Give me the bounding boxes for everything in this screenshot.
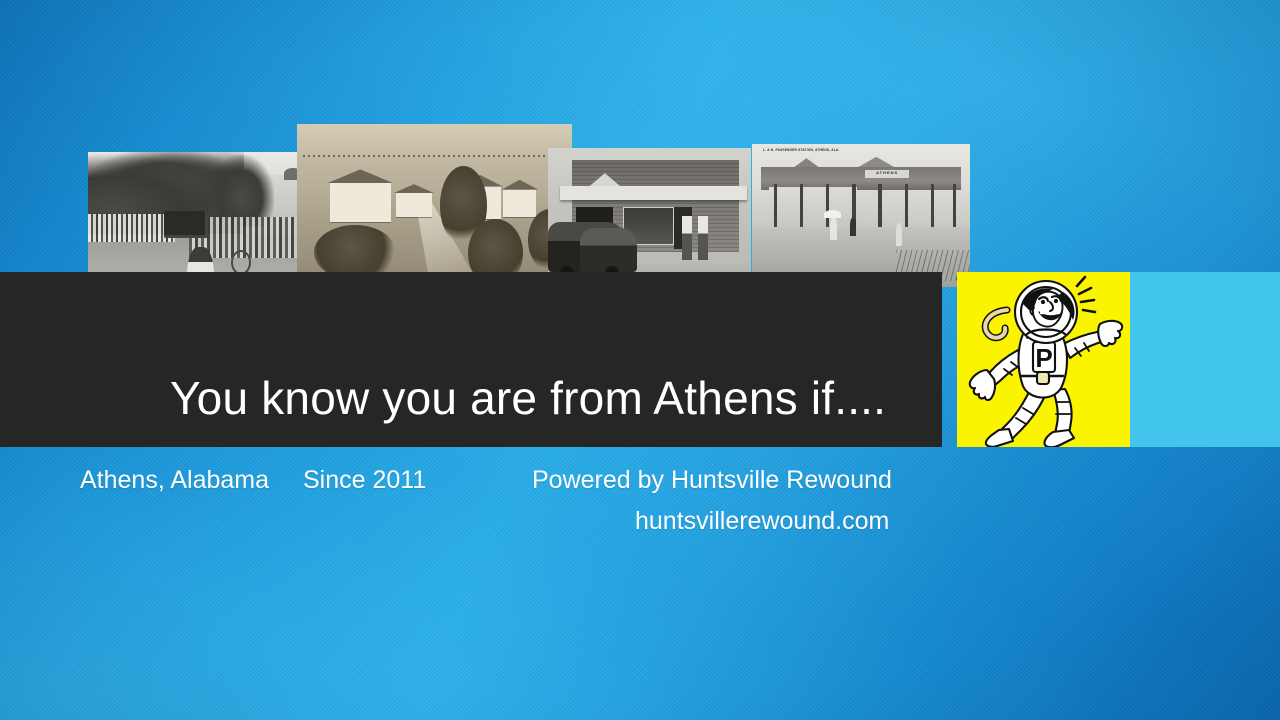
depot-photo-caption: L. & N. PASSENGER STATION, ATHENS, ALA.: [763, 148, 916, 152]
subtitle-website[interactable]: huntsvillerewound.com: [635, 506, 889, 536]
presentation-slide: L. & N. PASSENGER STATION, ATHENS, ALA. …: [0, 0, 1280, 720]
train-depot-photo: L. & N. PASSENGER STATION, ATHENS, ALA. …: [752, 144, 970, 287]
slide-title: You know you are from Athens if....: [170, 372, 886, 424]
subtitle-location: Athens, Alabama: [80, 465, 269, 495]
subtitle-powered-by: Powered by Huntsville Rewound: [532, 465, 892, 495]
depot-station-sign: ATHENS: [865, 170, 909, 179]
astronaut-mascot-icon: P: [957, 272, 1130, 447]
astronaut-mascot: P: [957, 272, 1130, 447]
aerial-houses-photo: [297, 124, 572, 287]
subtitle-since: Since 2011: [303, 465, 426, 495]
mascot-suit-letter: P: [1035, 343, 1052, 373]
cyan-accent-band: [1129, 272, 1280, 447]
title-banner: You know you are from Athens if....: [0, 272, 942, 447]
